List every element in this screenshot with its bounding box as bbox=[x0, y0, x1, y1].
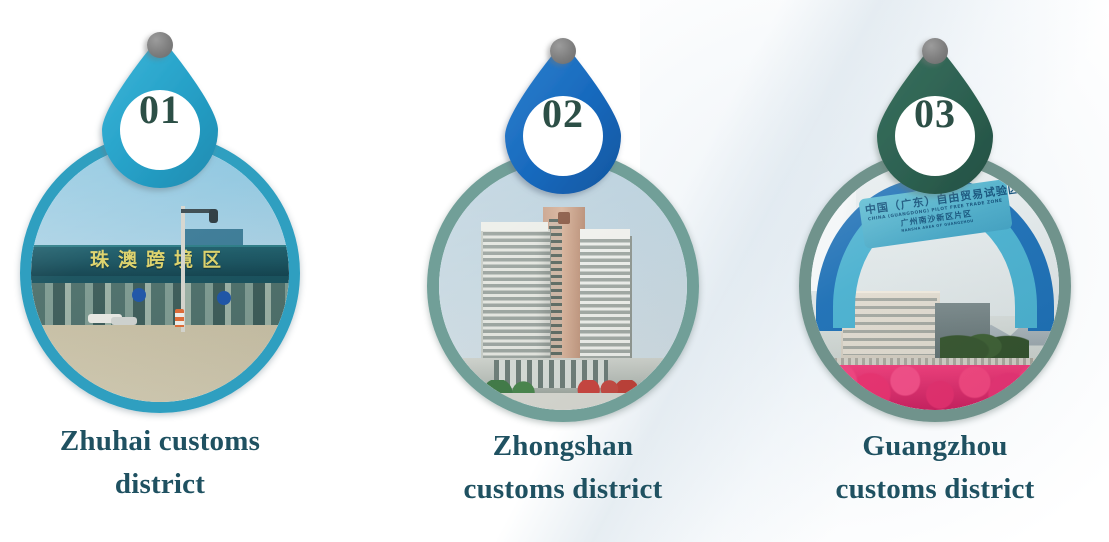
photo1-ground bbox=[31, 322, 289, 402]
photo1-gantry-beam bbox=[31, 276, 289, 284]
photo1-road-sign-right bbox=[217, 291, 231, 305]
caption-guangzhou-line1: Guangzhou bbox=[755, 425, 1109, 468]
photo2-emblem bbox=[558, 212, 570, 224]
photo-guangzhou: 中国（广东）自由贸易试验区 CHINA (GUANGDONG) PILOT FR… bbox=[811, 162, 1059, 410]
photo3-flowerbed bbox=[811, 365, 1059, 410]
photo1-gantry-sign-text: 珠澳跨境区 bbox=[31, 247, 289, 278]
caption-zhuhai: Zhuhai customs district bbox=[0, 420, 340, 506]
photo2-tower-center-windows bbox=[549, 219, 561, 363]
pin-dot-icon-3 bbox=[922, 38, 948, 64]
photo2-tower-left bbox=[481, 229, 551, 370]
pin-dot-icon-2 bbox=[550, 38, 576, 64]
photo1-car-2 bbox=[111, 317, 137, 325]
droplet-number-1: 01 bbox=[90, 90, 230, 130]
droplet-badge-3[interactable]: 03 bbox=[865, 38, 1005, 194]
photo2-tower-right bbox=[580, 236, 632, 370]
caption-zhongshan-line2: customs district bbox=[383, 468, 743, 511]
caption-zhuhai-line2: district bbox=[0, 463, 340, 506]
photo1-traffic-cone bbox=[175, 309, 184, 327]
photo2-tower-right-cap bbox=[580, 229, 630, 239]
caption-zhongshan-line1: Zhongshan bbox=[383, 425, 743, 468]
photo1-inspection-booths bbox=[31, 283, 289, 324]
droplet-badge-2[interactable]: 02 bbox=[493, 38, 633, 194]
droplet-badge-1[interactable]: 01 bbox=[90, 32, 230, 188]
caption-zhongshan: Zhongshan customs district bbox=[383, 425, 743, 511]
caption-zhuhai-line1: Zhuhai customs bbox=[0, 420, 340, 463]
pin-dot-icon-1 bbox=[147, 32, 173, 58]
caption-guangzhou-line2: customs district bbox=[755, 468, 1109, 511]
photo1-camera bbox=[209, 209, 218, 223]
droplet-number-2: 02 bbox=[493, 94, 633, 134]
infographic-canvas: 珠澳跨境区 bbox=[0, 0, 1109, 542]
photo2-tower-left-cap bbox=[481, 222, 548, 232]
photo1-gantry: 珠澳跨境区 bbox=[31, 245, 289, 280]
caption-guangzhou: Guangzhou customs district bbox=[755, 425, 1109, 511]
photo-zhongshan bbox=[439, 162, 687, 410]
droplet-number-3: 03 bbox=[865, 94, 1005, 134]
photo2-plaza bbox=[439, 393, 687, 410]
photo1-road-sign-left bbox=[132, 288, 146, 302]
